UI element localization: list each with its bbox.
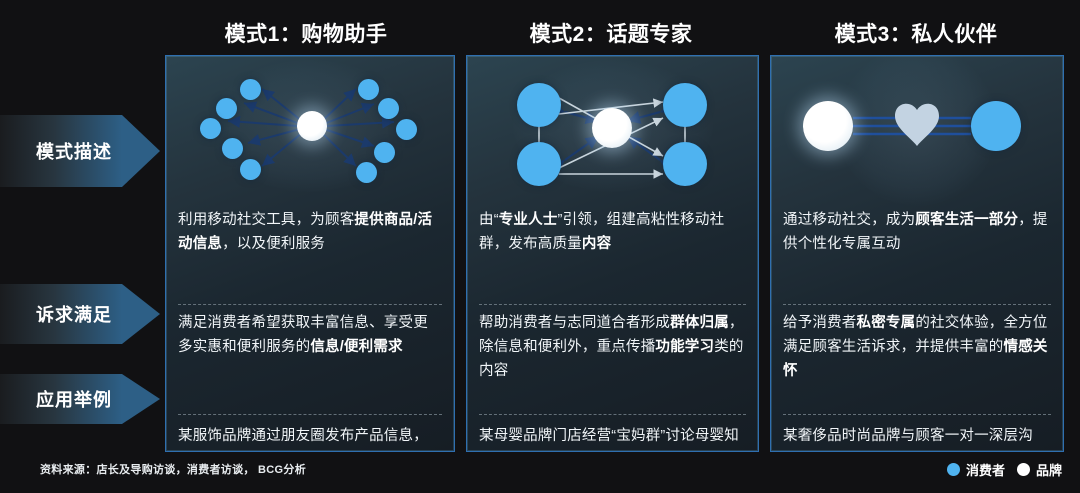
need-fulfillment-text: 帮助消费者与志同道合者形成群体归属，除信息和便利外，重点传播功能学习类的内容 — [467, 311, 758, 383]
need-fulfillment-text: 满足消费者希望获取丰富信息、享受更多实惠和便利服务的信息/便利需求 — [166, 311, 454, 359]
consumer-node — [240, 79, 261, 100]
diagram-one-to-one-heart — [771, 56, 1063, 196]
column-headers: 模式1：购物助手 模式2：话题专家 模式3：私人伙伴 — [160, 18, 1070, 50]
legend-label: 消费者 — [966, 460, 1005, 479]
row-label-need-fulfillment: 诉求满足 — [0, 284, 160, 344]
brand-node — [803, 101, 853, 151]
divider — [178, 414, 442, 415]
mode-description-text: 由“专业人士”引领，组建高粘性移动社群，发布高质量内容 — [467, 208, 758, 256]
consumer-node — [356, 162, 377, 183]
heart-icon — [895, 104, 939, 146]
consumer-node — [663, 83, 707, 127]
arrow-tip-icon — [122, 374, 160, 424]
row-label-mode-description: 模式描述 — [0, 115, 160, 187]
mode-description-text: 利用移动社交工具，为顾客提供商品/活动信息，以及便利服务 — [166, 208, 454, 256]
legend-label: 品牌 — [1036, 460, 1062, 479]
panel-text-blocks: 由“专业人士”引领，组建高粘性移动社群，发布高质量内容 帮助消费者与志同道合者形… — [467, 196, 758, 451]
column-header-1: 模式1：购物助手 — [160, 18, 452, 48]
consumer-node — [200, 118, 221, 139]
application-example-text: 某服饰品牌通过朋友圈发布产品信息，并解答售前/售后问题 — [166, 424, 454, 452]
mode-description-text: 通过移动社交，成为顾客生活一部分，提供个性化专属互动 — [771, 208, 1063, 256]
legend: 消费者 品牌 — [947, 460, 1062, 479]
consumer-node — [663, 142, 707, 186]
divider — [178, 304, 442, 305]
row-label-body: 模式描述 — [0, 115, 122, 187]
row-label-text: 应用举例 — [36, 386, 112, 412]
row-label-body: 应用举例 — [0, 374, 122, 424]
consumer-node — [222, 138, 243, 159]
row-label-text: 模式描述 — [36, 138, 112, 164]
divider — [783, 304, 1051, 305]
consumer-node — [374, 142, 395, 163]
consumer-node — [240, 159, 261, 180]
consumer-node — [971, 101, 1021, 151]
brand-node — [297, 111, 327, 141]
legend-item-brand: 品牌 — [1017, 460, 1062, 479]
diagram-hub-and-spoke — [166, 56, 454, 196]
panel-text-blocks: 利用移动社交工具，为顾客提供商品/活动信息，以及便利服务 满足消费者希望获取丰富… — [166, 196, 454, 451]
source-note: 资料来源：店长及导购访谈，消费者访谈， BCG分析 — [40, 461, 306, 477]
row-label-text: 诉求满足 — [36, 301, 112, 327]
consumer-node — [396, 119, 417, 140]
arrow-tip-icon — [122, 284, 160, 344]
slide-canvas: 模式1：购物助手 模式2：话题专家 模式3：私人伙伴 模式描述 诉求满足 应用举… — [0, 0, 1080, 493]
arrow-tip-icon — [122, 115, 160, 187]
mode-panel-1: 利用移动社交工具，为顾客提供商品/活动信息，以及便利服务 满足消费者希望获取丰富… — [165, 55, 455, 452]
consumer-node — [216, 98, 237, 119]
divider — [479, 414, 746, 415]
row-label-body: 诉求满足 — [0, 284, 122, 344]
white-circle-icon — [1017, 463, 1030, 476]
column-header-3: 模式3：私人伙伴 — [770, 18, 1062, 48]
divider — [783, 414, 1051, 415]
application-example-text: 某母婴品牌门店经营“宝妈群”讨论母婴知识并组织线下活动 — [467, 424, 758, 452]
legend-item-consumer: 消费者 — [947, 460, 1005, 479]
consumer-node — [517, 142, 561, 186]
column-header-2: 模式2：话题专家 — [465, 18, 757, 48]
row-label-application-example: 应用举例 — [0, 374, 160, 424]
consumer-node — [517, 83, 561, 127]
divider — [479, 304, 746, 305]
application-example-text: 某奢侈品时尚品牌与顾客一对一深层沟通，建立朋友般关系 — [771, 424, 1063, 452]
need-fulfillment-text: 给予消费者私密专属的社交体验，全方位满足顾客生活诉求，并提供丰富的情感关怀 — [771, 311, 1063, 383]
consumer-node — [378, 98, 399, 119]
consumer-node — [358, 79, 379, 100]
panel-text-blocks: 通过移动社交，成为顾客生活一部分，提供个性化专属互动 给予消费者私密专属的社交体… — [771, 196, 1063, 451]
brand-node — [592, 108, 632, 148]
mode-panel-3: 通过移动社交，成为顾客生活一部分，提供个性化专属互动 给予消费者私密专属的社交体… — [770, 55, 1064, 452]
diagram-community-mesh — [467, 56, 758, 196]
mode-panel-2: 由“专业人士”引领，组建高粘性移动社群，发布高质量内容 帮助消费者与志同道合者形… — [466, 55, 759, 452]
blue-circle-icon — [947, 463, 960, 476]
